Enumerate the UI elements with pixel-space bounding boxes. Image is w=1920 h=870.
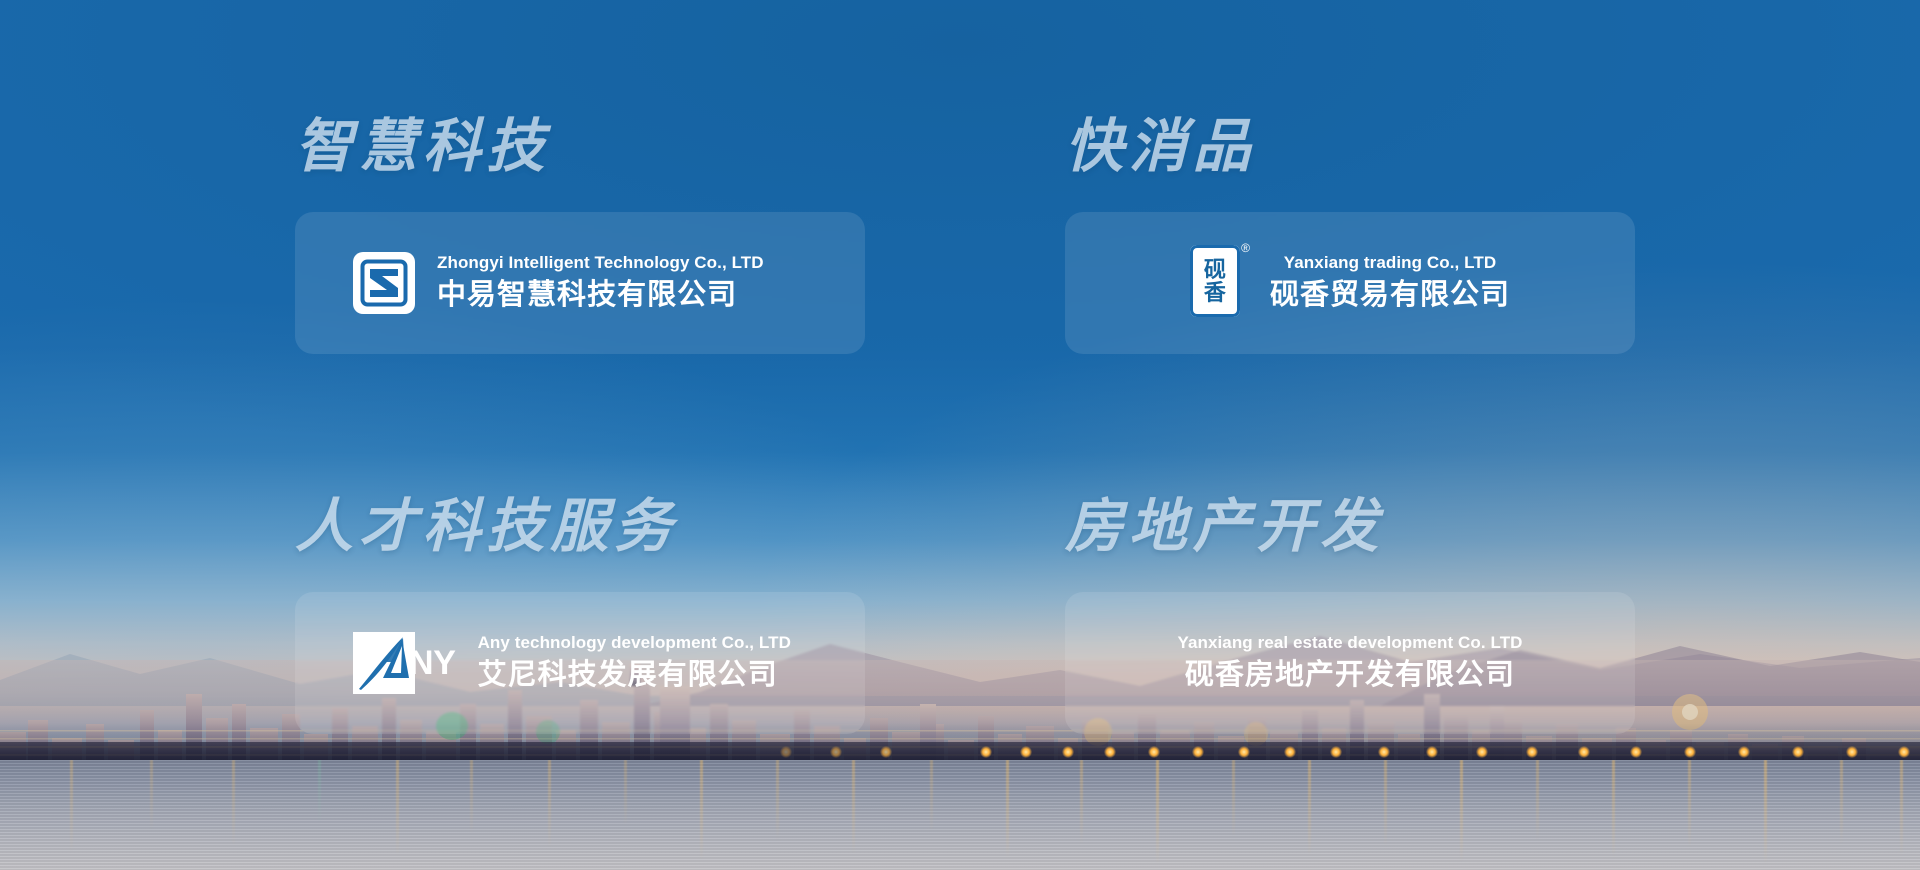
company-name-cn: 砚香贸易有限公司 [1270,277,1510,313]
zhongyi-z-mark [360,259,408,307]
company-name-en: Yanxiang real estate development Co. LTD [1177,633,1522,653]
hero-banner: 智慧科技 Zhongyi Intelligent Technology Co.,… [0,0,1920,870]
section-real-estate: 房地产开发 Yanxiang real estate development C… [1065,498,1635,734]
zhongyi-logo [353,252,415,314]
company-name-cn: 砚香房地产开发有限公司 [1177,657,1522,693]
section-heading-real-estate: 房地产开发 [1065,498,1635,556]
section-fmcg: 快消品 砚 香 ® Yanxiang trading Co., LTD [1065,118,1635,354]
company-card-yanxiang-trading[interactable]: 砚 香 ® Yanxiang trading Co., LTD 砚香贸易有限公司 [1065,212,1635,354]
company-card-zhongyi[interactable]: Zhongyi Intelligent Technology Co., LTD … [295,212,865,354]
registered-trademark-icon: ® [1241,241,1250,255]
section-heading-fmcg: 快消品 [1065,118,1635,176]
any-mountain-mark [353,632,415,694]
seal-char-xiang: 香 [1204,282,1226,304]
company-name-en: Any technology development Co., LTD [478,633,791,653]
section-heading-talent-tech-services: 人才科技服务 [295,498,865,556]
any-logo: NY [353,632,456,694]
any-wordmark: NY [409,646,456,680]
seal-char-yan: 砚 [1204,259,1226,281]
section-smart-technology: 智慧科技 Zhongyi Intelligent Technology Co.,… [295,118,865,354]
company-name-cn: 艾尼科技发展有限公司 [478,657,791,693]
company-name-en: Yanxiang trading Co., LTD [1270,253,1510,273]
section-heading-smart-technology: 智慧科技 [295,118,865,176]
company-card-yanxiang-real-estate[interactable]: Yanxiang real estate development Co. LTD… [1065,592,1635,734]
company-name-cn: 中易智慧科技有限公司 [437,277,764,313]
company-card-any[interactable]: NY Any technology development Co., LTD 艾… [295,592,865,734]
yanxiang-seal-logo: 砚 香 ® [1190,245,1248,321]
company-name-en: Zhongyi Intelligent Technology Co., LTD [437,253,764,273]
section-talent-tech-services: 人才科技服务 [295,498,865,734]
sections-grid: 智慧科技 Zhongyi Intelligent Technology Co.,… [0,0,1920,870]
